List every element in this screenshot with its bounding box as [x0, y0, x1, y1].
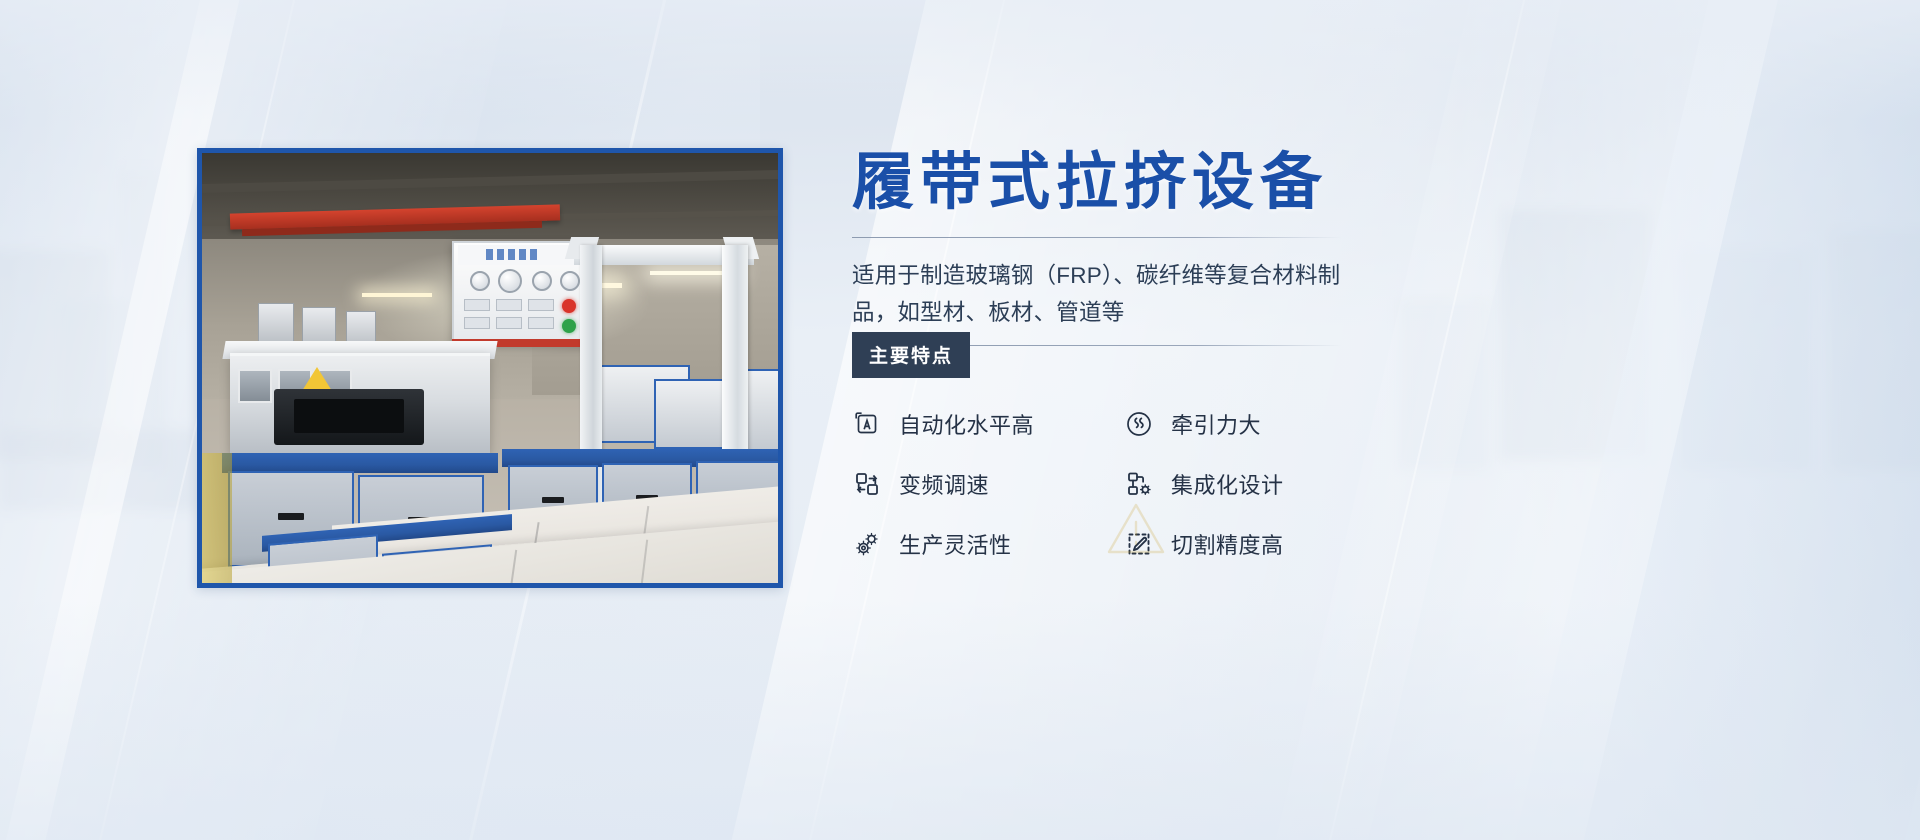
title-divider	[852, 237, 1342, 238]
feature-item: 自动化水平高	[852, 408, 1124, 440]
product-description: 适用于制造玻璃钢（FRP）、碳纤维等复合材料制品，如型材、板材、管道等	[852, 258, 1352, 331]
feature-item: 生产灵活性	[852, 528, 1124, 560]
features-badge: 主要特点	[852, 332, 970, 378]
feature-label: 生产灵活性	[899, 528, 1012, 560]
feature-label: 变频调速	[899, 468, 989, 500]
frequency-cycle-icon	[852, 469, 882, 499]
feature-item: 集成化设计	[1124, 468, 1396, 500]
product-photo	[197, 148, 783, 588]
page-title: 履带式拉挤设备	[852, 150, 1362, 215]
feature-label: 集成化设计	[1171, 468, 1284, 500]
banner-content: 履带式拉挤设备 适用于制造玻璃钢（FRP）、碳纤维等复合材料制品，如型材、板材、…	[852, 150, 1362, 560]
integrated-hierarchy-gear-icon	[1124, 469, 1154, 499]
feature-item: 变频调速	[852, 468, 1124, 500]
feature-label: 自动化水平高	[899, 408, 1034, 440]
double-gear-icon	[852, 529, 882, 559]
traction-wave-circle-icon	[1124, 409, 1154, 439]
feature-item: 牵引力大	[1124, 408, 1396, 440]
feature-label: 切割精度高	[1171, 528, 1284, 560]
product-banner: 履带式拉挤设备 适用于制造玻璃钢（FRP）、碳纤维等复合材料制品，如型材、板材、…	[0, 0, 1920, 840]
automation-square-a-icon	[852, 409, 882, 439]
warning-triangle-watermark	[1105, 500, 1167, 556]
feature-label: 牵引力大	[1171, 408, 1261, 440]
